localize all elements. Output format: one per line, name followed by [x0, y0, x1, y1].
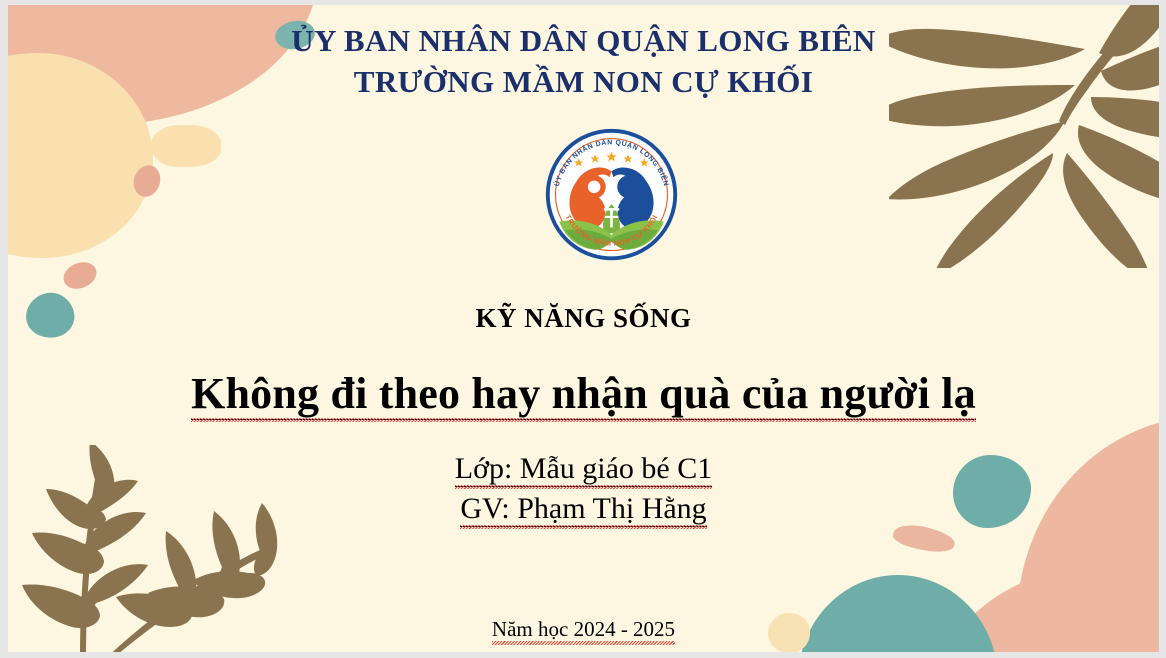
header-line-2: TRƯỜNG MẦM NON CỰ KHỐI: [8, 62, 1159, 103]
page-title: Không đi theo hay nhận quà của người lạ: [8, 368, 1159, 420]
page-title-text: Không đi theo hay nhận quà của người lạ: [191, 368, 976, 420]
subject-heading-text: KỸ NĂNG SỐNG: [475, 303, 691, 333]
slide-frame: ỦY BAN NHÂN DÂN QUẬN LONG BIÊN TRƯỜNG MẦ…: [0, 0, 1166, 658]
decor-blob-yellow-square: [151, 125, 221, 167]
slide-header: ỦY BAN NHÂN DÂN QUẬN LONG BIÊN TRƯỜNG MẦ…: [8, 21, 1159, 103]
presentation-slide: ỦY BAN NHÂN DÂN QUẬN LONG BIÊN TRƯỜNG MẦ…: [8, 5, 1159, 652]
header-line-1: ỦY BAN NHÂN DÂN QUẬN LONG BIÊN: [8, 21, 1159, 62]
school-year-text: Năm học 2024 - 2025: [492, 617, 675, 642]
teacher-label: GV: Phạm Thị Hằng: [8, 492, 1159, 527]
class-label-text: Lớp: Mẫu giáo bé C1: [455, 452, 713, 487]
decor-blob-peach-oval-small-2: [60, 258, 101, 294]
teacher-label-text: GV: Phạm Thị Hằng: [460, 492, 706, 527]
school-year-label: Năm học 2024 - 2025: [8, 617, 1159, 642]
logo-center-emblem: [603, 204, 620, 233]
class-label: Lớp: Mẫu giáo bé C1: [8, 452, 1159, 487]
subject-heading: KỸ NĂNG SỐNG: [8, 303, 1159, 334]
school-logo: ỦY BAN NHÂN DÂN QUẬN LONG BIÊN: [534, 127, 689, 267]
